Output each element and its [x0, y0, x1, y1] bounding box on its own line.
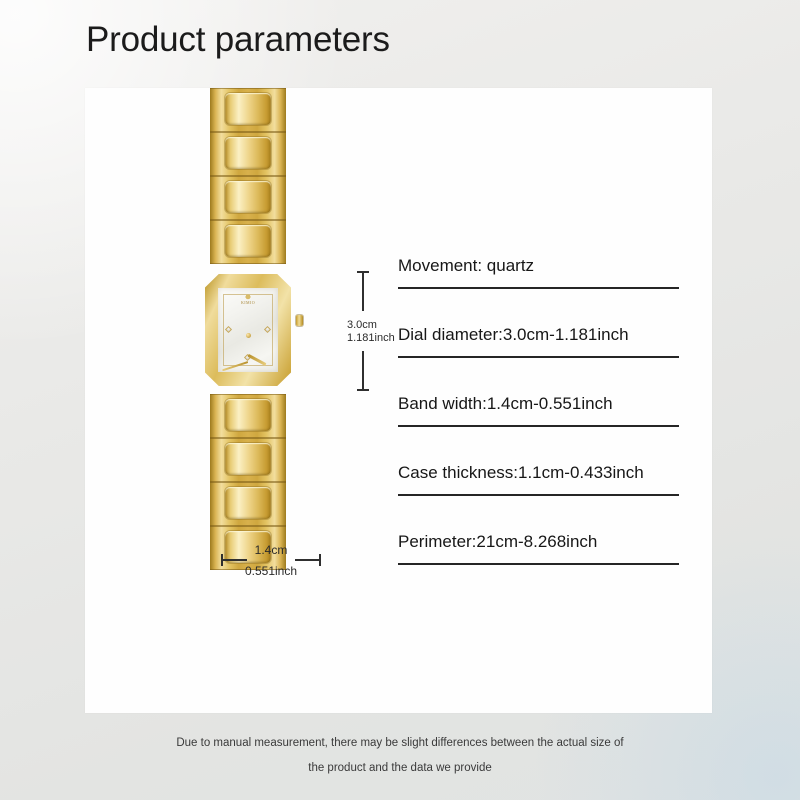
product-image-watch: KIMIO — [188, 88, 308, 458]
specifications-list: Movement: quartz Dial diameter:3.0cm-1.1… — [398, 256, 679, 601]
spec-row: Band width:1.4cm-0.551inch — [398, 394, 679, 463]
hands-center-cap — [246, 333, 251, 338]
band-link — [210, 88, 286, 130]
band-link — [210, 482, 286, 524]
product-parameters-page: Product parameters KIMIO — [0, 0, 800, 800]
watch-band-upper — [210, 88, 286, 266]
spec-row: Movement: quartz — [398, 256, 679, 325]
disclaimer-line-2: the product and the data we provide — [0, 756, 800, 781]
band-link — [210, 438, 286, 480]
spec-label-dial-diameter: Dial diameter:3.0cm-1.181inch — [398, 325, 629, 345]
spec-label-case-thickness: Case thickness:1.1cm-0.433inch — [398, 463, 644, 483]
dial-brand-text: KIMIO — [218, 300, 278, 305]
spec-label-movement: Movement: quartz — [398, 256, 534, 276]
dimension-line — [221, 559, 247, 561]
content-panel: KIMIO — [85, 88, 712, 713]
spec-divider — [398, 563, 679, 565]
page-title: Product parameters — [86, 20, 390, 60]
spec-divider — [398, 494, 679, 496]
watch-band-lower — [210, 394, 286, 554]
watch-dial: KIMIO — [218, 288, 278, 372]
measurement-disclaimer: Due to manual measurement, there may be … — [0, 731, 800, 781]
dimension-value-cm: 1.4cm — [221, 543, 321, 557]
spec-label-band-width: Band width:1.4cm-0.551inch — [398, 394, 613, 414]
dimension-callout-band-width: 1.4cm 0.551inch — [221, 559, 321, 561]
spec-divider — [398, 287, 679, 289]
band-link — [210, 394, 286, 436]
dimension-cap — [357, 271, 369, 273]
spec-divider — [398, 356, 679, 358]
dimension-line — [295, 559, 321, 561]
spec-row: Dial diameter:3.0cm-1.181inch — [398, 325, 679, 394]
brand-logo-icon — [243, 292, 253, 300]
dimension-callout-dial-height: 3.0cm 1.181inch — [362, 271, 364, 391]
band-link — [210, 220, 286, 262]
disclaimer-line-1: Due to manual measurement, there may be … — [0, 731, 800, 756]
watch-case: KIMIO — [198, 266, 298, 394]
spec-row: Perimeter:21cm-8.268inch — [398, 532, 679, 601]
dimension-line — [362, 351, 364, 391]
dimension-line — [362, 271, 364, 311]
spec-divider — [398, 425, 679, 427]
spec-row: Case thickness:1.1cm-0.433inch — [398, 463, 679, 532]
band-link — [210, 132, 286, 174]
band-link — [210, 176, 286, 218]
dimension-cap — [357, 389, 369, 391]
watch-bezel: KIMIO — [205, 274, 291, 386]
dimension-value-inch: 0.551inch — [212, 564, 330, 578]
spec-label-perimeter: Perimeter:21cm-8.268inch — [398, 532, 597, 552]
watch-crown — [296, 315, 303, 326]
